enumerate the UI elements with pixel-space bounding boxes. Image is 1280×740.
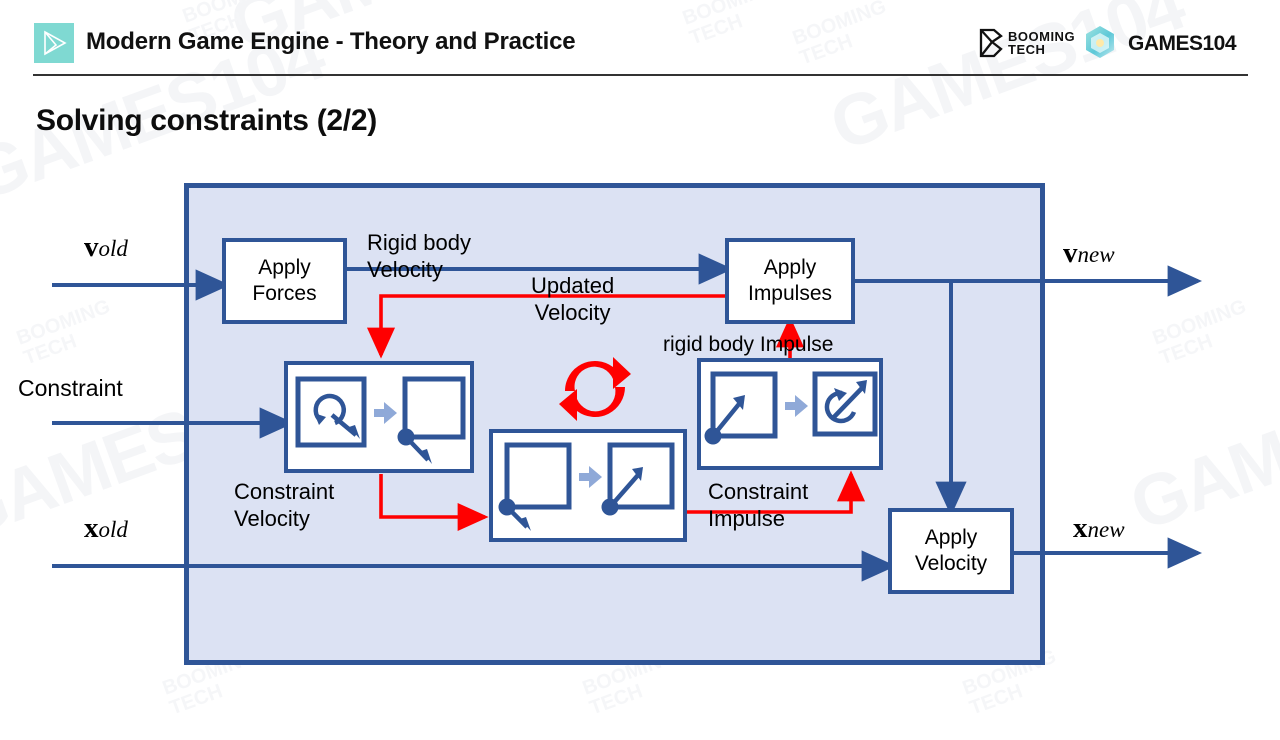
booming-tech-logo: BOOMING TECH — [978, 28, 1075, 58]
box-label-line1: Apply — [764, 255, 817, 281]
label-constraint-impulse: Constraint Impulse — [708, 478, 808, 532]
label-x-old: xold — [84, 512, 128, 545]
process-box-apply-impulses[interactable]: Apply Impulses — [725, 238, 855, 324]
watermark-games104: GAMES104 — [1120, 344, 1280, 547]
label-constraint-input: Constraint — [18, 375, 123, 402]
watermark-booming-tech: BOOMINGTECH — [1150, 297, 1256, 370]
box-label-line2: Forces — [252, 281, 316, 307]
icon-group-point-impulse-to-rotation[interactable] — [697, 358, 883, 470]
watermark-booming-tech: BOOMINGTECH — [14, 297, 120, 370]
booming-text-line2: TECH — [1008, 43, 1075, 56]
icon-group-point-pair-velocity[interactable] — [489, 429, 687, 542]
label-rigid-body-impulse: rigid body Impulse — [663, 331, 833, 358]
box-label-line1: Apply — [258, 255, 311, 281]
box-label-line2: Velocity — [915, 551, 987, 577]
label-x-new: xnew — [1073, 512, 1125, 545]
label-rigid-body-velocity: Rigid body Velocity — [367, 229, 471, 283]
header-divider — [33, 74, 1248, 76]
label-constraint-velocity: Constraint Velocity — [234, 478, 334, 532]
process-box-apply-velocity[interactable]: Apply Velocity — [888, 508, 1014, 594]
label-updated-velocity: Updated Velocity — [531, 272, 614, 326]
play-triangle-icon — [34, 23, 74, 63]
iteration-loop-icon — [551, 345, 639, 433]
booming-b-icon — [978, 28, 1004, 58]
label-v-new: vnew — [1063, 237, 1115, 270]
slide-canvas: GAMES104 GAMES104 GAMES104 GAMES104 GAME… — [0, 0, 1280, 740]
label-v-old: vold — [84, 231, 128, 264]
slide-header: Modern Game Engine - Theory and Practice… — [0, 0, 1280, 86]
box-label-line2: Impulses — [748, 281, 832, 307]
process-box-apply-forces[interactable]: Apply Forces — [222, 238, 347, 324]
games104-wordmark: GAMES104 — [1128, 32, 1236, 56]
games104-hex-icon — [1083, 25, 1117, 59]
point-impulse-to-rotation-icon — [701, 362, 879, 466]
box-label-line1: Apply — [925, 525, 978, 551]
rotation-to-point-velocity-icon — [288, 365, 470, 469]
header-title: Modern Game Engine - Theory and Practice — [86, 28, 575, 56]
point-pair-velocity-icon — [493, 433, 683, 538]
page-title: Solving constraints (2/2) — [36, 104, 377, 138]
icon-group-rotation-to-point-velocity[interactable] — [284, 361, 474, 473]
